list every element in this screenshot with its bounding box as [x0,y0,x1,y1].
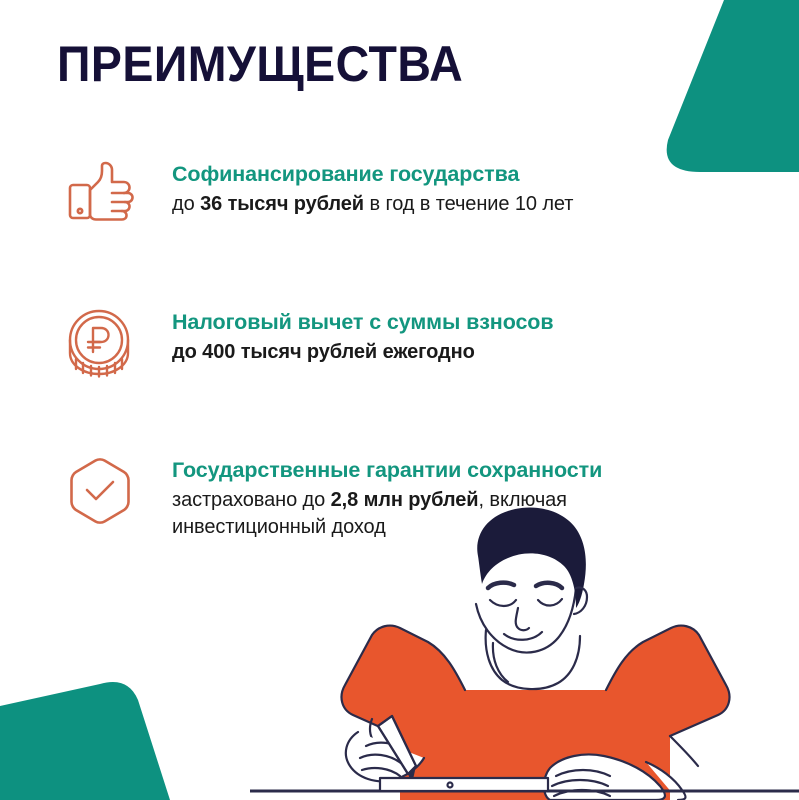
benefit-title: Софинансирование государства [172,161,682,188]
man-writing-at-desk-illustration [250,500,799,800]
benefit-subtitle: до 36 тысяч рублей в год в течение 10 ле… [172,191,682,218]
benefits-list: Софинансирование государства до 36 тысяч… [62,155,682,541]
teal-shape-top-right [667,0,799,172]
benefit-text-block: Софинансирование государства до 36 тысяч… [138,155,682,218]
hexagon-check-icon [62,453,138,529]
page-title: ПРЕИМУЩЕСТВА [57,37,463,92]
teal-shape-bottom-left [0,682,170,800]
benefit-item: Налоговый вычет с суммы взносов до 400 т… [62,303,682,381]
ruble-coin-icon [62,305,138,381]
benefit-title: Государственные гарантии сохранности [172,457,682,484]
benefit-text-block: Налоговый вычет с суммы взносов до 400 т… [138,303,682,366]
infographic-poster: ПРЕИМУЩЕСТВА Софинансирование государств… [0,0,799,800]
benefit-title: Налоговый вычет с суммы взносов [172,309,682,336]
benefit-subtitle: до 400 тысяч рублей ежегодно [172,339,682,366]
benefit-item: Софинансирование государства до 36 тысяч… [62,155,682,233]
thumbs-up-icon [62,157,138,233]
